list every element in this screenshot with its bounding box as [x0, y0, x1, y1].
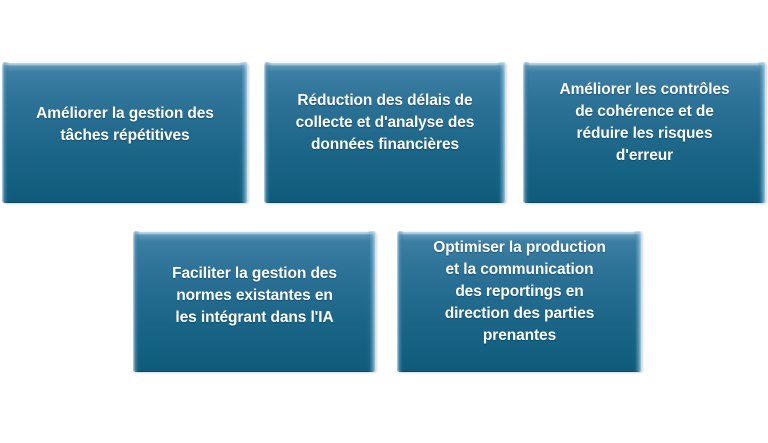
- callout-box-2[interactable]: Réduction des délais de collecte et d'an…: [264, 62, 506, 203]
- callout-box-3[interactable]: Améliorer les contrôles de cohérence et …: [523, 62, 766, 203]
- callout-box-5[interactable]: Optimiser la production et la communicat…: [397, 231, 642, 372]
- callout-box-4[interactable]: Faciliter la gestion des normes existant…: [133, 231, 376, 372]
- callout-box-3-label: Améliorer les contrôles de cohérence et …: [560, 79, 730, 167]
- callout-box-4-label: Faciliter la gestion des normes existant…: [172, 263, 337, 329]
- callout-box-5-label: Optimiser la production et la communicat…: [433, 237, 606, 347]
- callout-box-1-label: Améliorer la gestion des tâches répétiti…: [36, 103, 214, 147]
- callout-box-2-label: Réduction des délais de collecte et d'an…: [296, 90, 475, 156]
- diagram-canvas: Améliorer la gestion des tâches répétiti…: [0, 0, 768, 443]
- callout-box-1[interactable]: Améliorer la gestion des tâches répétiti…: [2, 62, 248, 203]
